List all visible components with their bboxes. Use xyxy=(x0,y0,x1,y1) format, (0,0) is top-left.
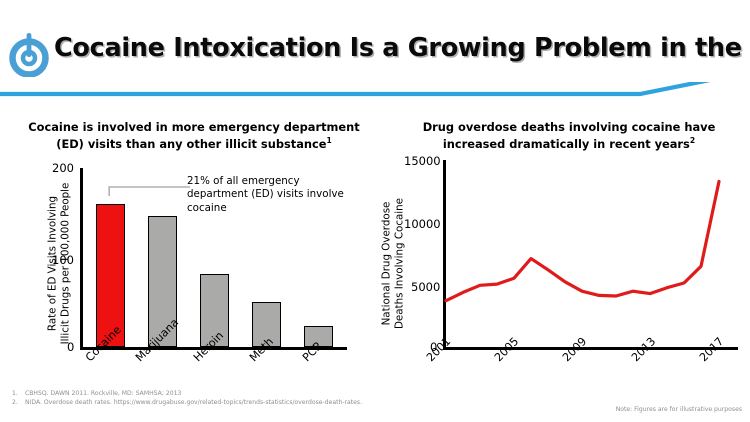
right-ytick-5000: 5000 xyxy=(411,280,440,294)
callout-text: 21% of all emergency department (ED) vis… xyxy=(187,175,352,215)
right-chart-title: Drug overdose deaths involving cocaine h… xyxy=(396,120,742,151)
right-ytick-10000: 10000 xyxy=(404,217,441,231)
left-ytick-200: 200 xyxy=(52,161,74,175)
left-chart-y-axis xyxy=(80,168,83,349)
callout-leader-line xyxy=(108,182,190,194)
right-xtick-2001: 2001 xyxy=(424,335,453,364)
slide: Cocaine Intoxication Is a Growing Proble… xyxy=(0,0,750,422)
header-accent-line xyxy=(0,82,750,104)
footnote-text: NIDA. Overdose death rates. https://www.… xyxy=(25,399,432,408)
footnote-item: 2. NIDA. Overdose death rates. https://w… xyxy=(12,399,432,408)
slide-header: Cocaine Intoxication Is a Growing Proble… xyxy=(0,0,750,104)
footnote-number: 1. xyxy=(12,390,25,399)
power-button-logo-icon xyxy=(7,31,51,77)
footnote-item: 1. CBHSQ. DAWN 2011. Rockville, MD: SAMH… xyxy=(12,390,432,399)
right-ytick-15000: 15000 xyxy=(404,154,441,168)
right-chart-title-line2: increased dramatically in recent years xyxy=(443,137,690,151)
illustrative-purposes-note: Note: Figures are for illustrative purpo… xyxy=(616,406,742,413)
footnote-number: 2. xyxy=(12,399,25,408)
left-chart-title-line1: Cocaine is involved in more emergency de… xyxy=(28,120,359,134)
left-chart-title-superscript: 1 xyxy=(326,136,331,145)
left-chart-title: Cocaine is involved in more emergency de… xyxy=(14,120,374,151)
left-chart-title-line2: (ED) visits than any other illicit subst… xyxy=(56,137,326,151)
right-chart-plot-area xyxy=(443,160,739,349)
footnote-text: CBHSQ. DAWN 2011. Rockville, MD: SAMHSA;… xyxy=(25,390,432,399)
right-y-label-line1: National Drug Overdose xyxy=(381,202,393,326)
right-chart-title-line1: Drug overdose deaths involving cocaine h… xyxy=(423,120,716,134)
page-title: Cocaine Intoxication Is a Growing Proble… xyxy=(54,33,744,63)
right-chart-y-axis-label: National Drug Overdose Deaths Involving … xyxy=(381,169,406,359)
left-ytick-0: 0 xyxy=(67,340,74,354)
footnotes: 1. CBHSQ. DAWN 2011. Rockville, MD: SAMH… xyxy=(12,390,432,407)
left-ytick-100: 100 xyxy=(52,253,74,267)
right-chart-title-superscript: 2 xyxy=(690,136,695,145)
